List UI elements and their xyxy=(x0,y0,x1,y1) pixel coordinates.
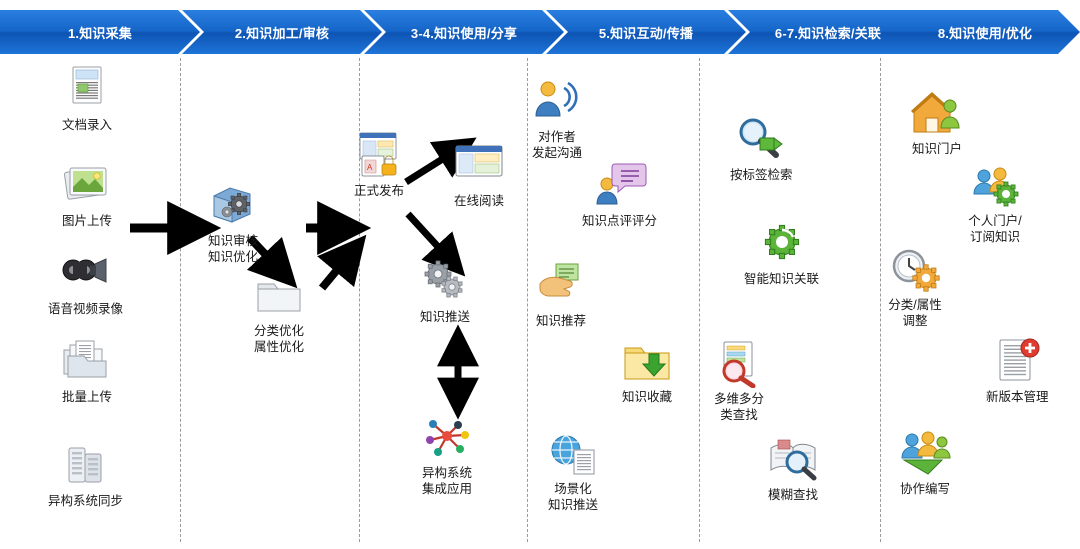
node-label: 分类/属性 调整 xyxy=(888,297,941,329)
hand-doc-icon xyxy=(534,260,588,310)
node-label: 新版本管理 xyxy=(986,389,1049,405)
stage-chevron-1[interactable]: 1.知识采集 xyxy=(0,10,200,54)
node-contact-author[interactable]: 对作者 发起沟通 xyxy=(530,76,584,161)
stage-label: 2.知识加工/审核 xyxy=(235,23,329,42)
node-label: 语音视频录像 xyxy=(48,301,123,317)
stage-label: 5.知识互动/传播 xyxy=(599,23,693,42)
node-online-reading[interactable]: 在线阅读 xyxy=(452,140,506,209)
node-label: 在线阅读 xyxy=(454,193,504,209)
node-heterogeneous-sync[interactable]: 异构系统同步 xyxy=(48,440,123,509)
node-scenario-push[interactable]: 场景化 知识推送 xyxy=(546,428,600,513)
doc-search-icon xyxy=(712,338,766,388)
node-tag-search[interactable]: 按标签检索 xyxy=(730,114,793,183)
node-knowledge-portal[interactable]: 知识门户 xyxy=(910,88,964,157)
stage-label: 1.知识采集 xyxy=(68,23,132,42)
node-label: 知识收藏 xyxy=(622,389,672,405)
node-audio-video-record[interactable]: 语音视频录像 xyxy=(48,248,123,317)
node-heterogeneous-app[interactable]: 异构系统 集成应用 xyxy=(420,412,474,497)
node-label: 知识推荐 xyxy=(536,313,586,329)
stage-label: 3-4.知识使用/分享 xyxy=(411,23,517,42)
document-icon xyxy=(60,64,114,114)
publish-docs-icon: A xyxy=(352,130,406,180)
node-label: 知识点评评分 xyxy=(582,213,657,229)
gears-push-icon xyxy=(418,256,472,306)
node-label: 多维多分 类查找 xyxy=(714,391,764,423)
node-label: 分类优化 属性优化 xyxy=(254,323,304,355)
stage-chevron-3[interactable]: 3-4.知识使用/分享 xyxy=(364,10,564,54)
folders-icon xyxy=(60,336,114,386)
node-knowledge-recommend[interactable]: 知识推荐 xyxy=(534,260,588,329)
stage-label: 6-7.知识检索/关联 xyxy=(775,23,881,42)
node-label: 知识推送 xyxy=(420,309,470,325)
media-icon xyxy=(59,248,113,298)
node-knowledge-rating[interactable]: 知识点评评分 xyxy=(582,160,657,229)
gears-box-icon xyxy=(206,180,260,230)
node-label: 智能知识关联 xyxy=(744,271,819,287)
node-classify-optimize[interactable]: 分类优化 属性优化 xyxy=(252,270,306,355)
node-label: 协作编写 xyxy=(900,481,950,497)
node-label: 文档录入 xyxy=(62,117,112,133)
node-label: 图片上传 xyxy=(62,213,112,229)
window-doc-icon xyxy=(452,140,506,190)
network-icon xyxy=(420,412,474,462)
node-label: 按标签检索 xyxy=(730,167,793,183)
node-knowledge-favorite[interactable]: 知识收藏 xyxy=(620,336,674,405)
person-comment-icon xyxy=(593,160,647,210)
node-multi-dim-search[interactable]: 多维多分 类查找 xyxy=(712,338,766,423)
node-knowledge-review[interactable]: 知识审核 知识优化 xyxy=(206,180,260,265)
node-version-manage[interactable]: 新版本管理 xyxy=(986,336,1049,405)
node-batch-upload[interactable]: 批量上传 xyxy=(60,336,114,405)
images-icon xyxy=(60,160,114,210)
node-official-publish[interactable]: A 正式发布 xyxy=(352,130,406,199)
node-label: 异构系统同步 xyxy=(48,493,123,509)
stage-header-bar: 1.知识采集2.知识加工/审核3-4.知识使用/分享5.知识互动/传播6-7.知… xyxy=(0,10,1080,54)
node-smart-relation[interactable]: 智能知识关联 xyxy=(744,218,819,287)
node-personal-portal[interactable]: 个人门户/ 订阅知识 xyxy=(968,160,1022,245)
home-users-icon xyxy=(910,88,964,138)
node-label: 模糊查找 xyxy=(768,487,818,503)
arrow-classify-to-publish xyxy=(322,252,352,288)
node-knowledge-push[interactable]: 知识推送 xyxy=(418,256,472,325)
node-image-upload[interactable]: 图片上传 xyxy=(60,160,114,229)
node-category-adjust[interactable]: 分类/属性 调整 xyxy=(888,244,942,329)
stage-chevron-2[interactable]: 2.知识加工/审核 xyxy=(182,10,382,54)
users-gear-icon xyxy=(968,160,1022,210)
column-separator-3 xyxy=(527,58,528,542)
node-doc-input[interactable]: 文档录入 xyxy=(60,64,114,133)
stage-chevron-4[interactable]: 5.知识互动/传播 xyxy=(546,10,746,54)
folder-gray-icon xyxy=(252,270,306,320)
node-label: 场景化 知识推送 xyxy=(548,481,598,513)
arrow-publish-to-push xyxy=(408,214,452,262)
stage-chevron-5[interactable]: 6-7.知识检索/关联 xyxy=(728,10,928,54)
servers-icon xyxy=(59,440,113,490)
gear-green-icon xyxy=(755,218,809,268)
stage-label: 8.知识使用/优化 xyxy=(938,23,1032,42)
node-label: 批量上传 xyxy=(62,389,112,405)
node-fuzzy-search[interactable]: 模糊查找 xyxy=(766,434,820,503)
node-label: 知识门户 xyxy=(912,141,962,157)
book-search-icon xyxy=(766,434,820,484)
doc-plus-icon xyxy=(990,336,1044,386)
node-label: 正式发布 xyxy=(354,183,404,199)
node-collaborative-edit[interactable]: 协作编写 xyxy=(898,428,952,497)
node-label: 对作者 发起沟通 xyxy=(532,129,582,161)
folder-down-icon xyxy=(620,336,674,386)
globe-doc-icon xyxy=(546,428,600,478)
column-separator-1 xyxy=(180,58,181,542)
clock-gear-icon xyxy=(888,244,942,294)
magnifier-tag-icon xyxy=(734,114,788,164)
users-arrow-icon xyxy=(898,428,952,478)
person-speak-icon xyxy=(530,76,584,126)
node-label: 个人门户/ 订阅知识 xyxy=(968,213,1021,245)
column-separator-4 xyxy=(699,58,700,542)
node-label: 异构系统 集成应用 xyxy=(422,465,472,497)
column-separator-5 xyxy=(880,58,881,542)
svg-text:A: A xyxy=(367,163,373,172)
node-label: 知识审核 知识优化 xyxy=(208,233,258,265)
